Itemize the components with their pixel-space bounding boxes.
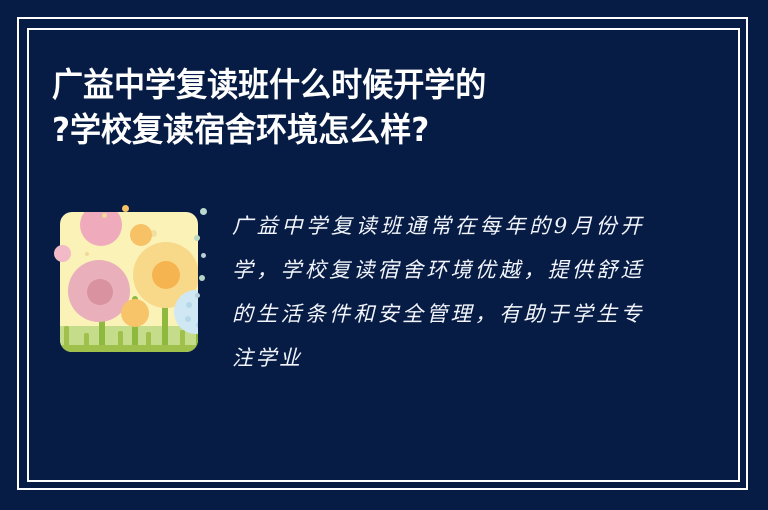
orange-dot-bloom-icon: [130, 224, 152, 246]
sky-speck-icon: [199, 275, 205, 281]
title-line-1: 广益中学复读班什么时候开学的: [52, 62, 635, 107]
blue-bloom-speck-icon: [196, 322, 198, 328]
illustration-card: [60, 212, 198, 352]
content-row: 广益中学复读班通常在每年的9月份开学，学校复读宿舍环境优越，提供舒适的生活条件和…: [0, 200, 768, 430]
orange-small-bloom-icon: [121, 299, 149, 327]
pink-tiny-bloom-icon: [54, 245, 71, 262]
title-line-2: ?学校复读宿舍环境怎么样?: [52, 107, 635, 152]
sky-speck-icon: [195, 293, 200, 298]
sky-speck-icon: [102, 213, 107, 218]
poster-page: 广益中学复读班什么时候开学的 ?学校复读宿舍环境怎么样?: [0, 0, 768, 510]
sky-speck-icon: [201, 253, 206, 258]
flower-garden-illustration: [58, 205, 206, 360]
yellow-large-bloom-core-icon: [152, 261, 180, 289]
pink-top-bloom-icon: [80, 212, 122, 246]
page-title: 广益中学复读班什么时候开学的 ?学校复读宿舍环境怎么样?: [52, 62, 672, 152]
blue-bloom-speck-icon: [186, 302, 192, 308]
sky-speck-icon: [194, 235, 200, 241]
pink-large-bloom-core-icon: [87, 279, 113, 305]
ground-bar: [60, 345, 198, 352]
blue-bloom-speck-icon: [185, 316, 191, 322]
card-speck-icon: [85, 252, 89, 256]
sky-speck-icon: [200, 208, 207, 215]
sky-speck-icon: [122, 205, 129, 212]
article-body: 广益中学复读班通常在每年的9月份开学，学校复读宿舍环境优越，提供舒适的生活条件和…: [232, 204, 644, 380]
